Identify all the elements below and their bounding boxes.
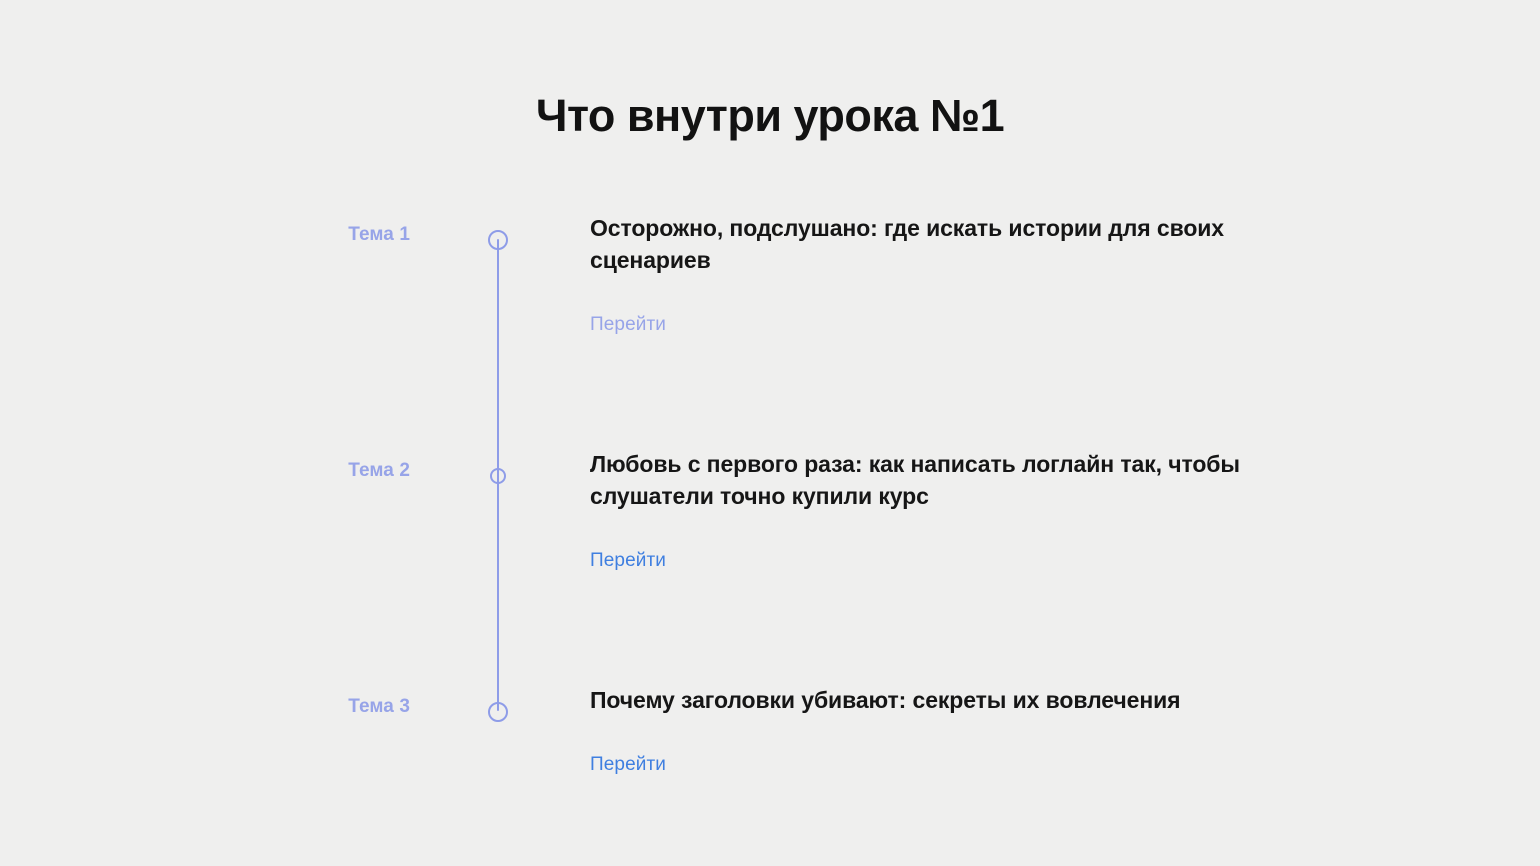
- topic-3-label: Тема 3: [220, 694, 410, 720]
- topic-3-body: Почему заголовки убивают: секреты их вов…: [590, 684, 1320, 778]
- topic-2-title: Любовь с первого раза: как написать логл…: [590, 448, 1320, 512]
- topic-2-goto-link[interactable]: Перейти: [590, 548, 666, 574]
- lesson-timeline: Тема 1 Осторожно, подслушано: где искать…: [0, 212, 1540, 852]
- topic-1-title: Осторожно, подслушано: где искать истори…: [590, 212, 1320, 276]
- topic-2-body: Любовь с первого раза: как написать логл…: [590, 448, 1320, 574]
- topic-3-goto-link[interactable]: Перейти: [590, 752, 666, 778]
- timeline-marker-circle-icon: [490, 468, 506, 484]
- topic-3-title: Почему заголовки убивают: секреты их вов…: [590, 684, 1320, 716]
- timeline-marker-circle-icon: [488, 230, 508, 250]
- timeline-marker-circle-icon: [488, 702, 508, 722]
- topic-1-label: Тема 1: [220, 222, 410, 248]
- topic-2-label: Тема 2: [220, 458, 410, 484]
- page-title: Что внутри урока №1: [0, 88, 1540, 144]
- topic-1-goto-link[interactable]: Перейти: [590, 312, 666, 338]
- topic-1-body: Осторожно, подслушано: где искать истори…: [590, 212, 1320, 338]
